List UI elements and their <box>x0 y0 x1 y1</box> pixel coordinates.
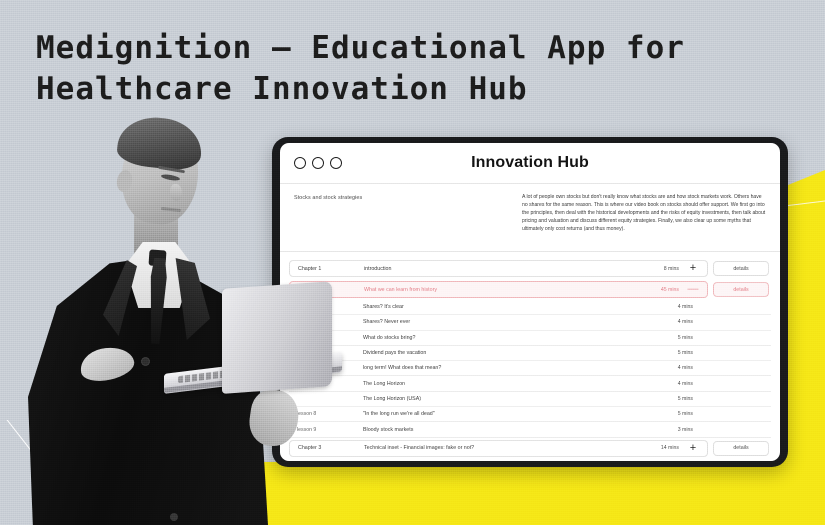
intro-label: Stocks and stock strategies <box>294 193 522 241</box>
lesson-duration: 3 mins <box>645 427 693 433</box>
details-button[interactable]: details <box>713 261 769 276</box>
details-button[interactable]: details <box>713 441 769 456</box>
intro-body: A lot of people own stocks but don't rea… <box>522 193 766 241</box>
lesson-duration: 4 mins <box>645 365 693 371</box>
lesson-row[interactable]: What do stocks bring?5 mins <box>289 331 771 346</box>
lesson-name: Shares? It's clear <box>363 304 645 310</box>
intro-section: Stocks and stock strategies A lot of peo… <box>280 184 780 252</box>
window-dot-icon-1[interactable] <box>294 157 306 169</box>
chapter-entry: Chapter 3Technical inset - Financial ima… <box>289 438 771 459</box>
lesson-row[interactable]: The Long Horizon (USA)5 mins <box>289 392 771 407</box>
trouser-button <box>170 513 178 521</box>
chapter-duration: 8 mins <box>631 266 679 272</box>
chapter-entry: Chapter 4pricing67 mins+details <box>289 459 771 461</box>
lesson-name: "In the long run we're all dead" <box>363 411 645 417</box>
lesson-name: Shares? Never ever <box>363 319 645 325</box>
chapter-duration: 14 mins <box>631 445 679 451</box>
lesson-row[interactable]: Dividend pays the vacation5 mins <box>289 346 771 361</box>
chapter-entry: What we can learn from history45 mins—de… <box>289 279 771 300</box>
lesson-row[interactable]: Shares? Never ever4 mins <box>289 315 771 330</box>
lesson-duration: 4 mins <box>645 319 693 325</box>
suit-button <box>142 358 149 365</box>
lesson-row[interactable]: The Long Horizon4 mins <box>289 376 771 391</box>
page-title: Medignition — Educational App for Health… <box>36 28 736 110</box>
chapter-name: Technical inset - Financial images: fake… <box>364 445 631 451</box>
chapter-number: Chapter 3 <box>298 445 364 451</box>
collapse-icon[interactable]: — <box>679 284 707 295</box>
chapter-name: What we can learn from history <box>364 287 631 293</box>
expand-icon[interactable]: + <box>679 443 707 454</box>
window-controls[interactable] <box>294 157 342 169</box>
app-title: Innovation Hub <box>280 154 780 172</box>
lesson-duration: 5 mins <box>645 411 693 417</box>
laptop-lid <box>222 281 332 394</box>
lesson-name: What do stocks bring? <box>363 335 645 341</box>
lesson-duration: 5 mins <box>645 335 693 341</box>
app-header: Innovation Hub <box>280 143 780 184</box>
window-dot-icon-3[interactable] <box>330 157 342 169</box>
chapter-list: Chapter 1introduction8 mins+detailsWhat … <box>280 252 780 461</box>
lesson-name: The Long Horizon (USA) <box>363 396 645 402</box>
chapter-number: Chapter 1 <box>298 266 364 272</box>
lesson-row[interactable]: long term! What does that mean?4 mins <box>289 361 771 376</box>
lesson-number: lesson 9 <box>297 427 363 433</box>
lesson-number: lesson 8 <box>297 411 363 417</box>
details-button[interactable]: details <box>713 282 769 297</box>
laptop <box>170 285 340 410</box>
lesson-duration: 5 mins <box>645 396 693 402</box>
lesson-row[interactable]: lesson 8"In the long run we're all dead"… <box>289 407 771 422</box>
lesson-name: Bloody stock markets <box>363 427 645 433</box>
chapter-entry: Chapter 1introduction8 mins+details <box>289 258 771 279</box>
poster-canvas: Medignition — Educational App for Health… <box>0 0 825 525</box>
chapter-row[interactable]: Chapter 3Technical inset - Financial ima… <box>289 440 708 457</box>
lesson-name: Dividend pays the vacation <box>363 350 645 356</box>
lesson-name: The Long Horizon <box>363 381 645 387</box>
lesson-duration: 4 mins <box>645 304 693 310</box>
chapter-name: introduction <box>364 266 631 272</box>
chapter-row[interactable]: What we can learn from history45 mins— <box>289 281 708 298</box>
lesson-row[interactable]: Shares? It's clear4 mins <box>289 300 771 315</box>
lesson-duration: 5 mins <box>645 350 693 356</box>
lesson-name: long term! What does that mean? <box>363 365 645 371</box>
expand-icon[interactable]: + <box>679 263 707 274</box>
yellow-block-bottom <box>245 462 825 525</box>
app-window: Innovation Hub Stocks and stock strategi… <box>280 143 780 461</box>
lesson-duration: 4 mins <box>645 381 693 387</box>
chapter-row[interactable]: Chapter 1introduction8 mins+ <box>289 260 708 277</box>
window-dot-icon-2[interactable] <box>312 157 324 169</box>
chapter-duration: 45 mins <box>631 287 679 293</box>
lesson-row[interactable]: lesson 9Bloody stock markets3 mins <box>289 422 771 437</box>
nose <box>170 184 182 201</box>
